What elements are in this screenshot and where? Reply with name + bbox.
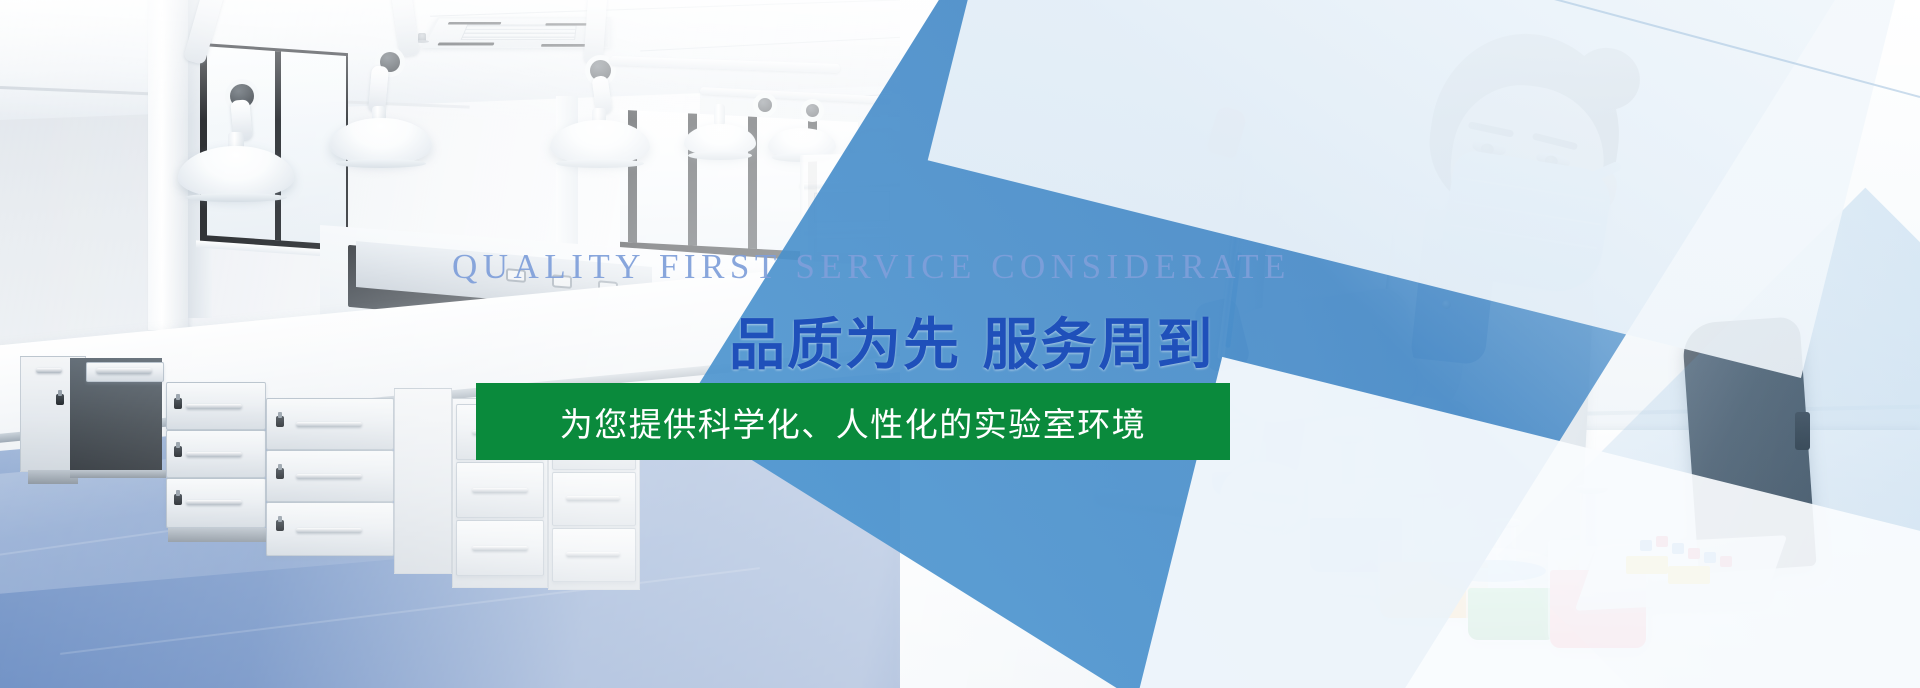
subtitle-text: 为您提供科学化、人性化的实验室环境 [560, 398, 1147, 446]
headline-chinese: 品质为先 服务周到 [729, 300, 1215, 381]
tagline-english: QUALITY FIRST SERVICE CONSIDERATE [452, 247, 1291, 287]
banner-copy: QUALITY FIRST SERVICE CONSIDERATE 品质为先 服… [0, 0, 1920, 688]
subtitle-green-bar: 为您提供科学化、人性化的实验室环境 [476, 383, 1230, 460]
lab-hero-banner: QUALITY FIRST SERVICE CONSIDERATE 品质为先 服… [0, 0, 1920, 688]
